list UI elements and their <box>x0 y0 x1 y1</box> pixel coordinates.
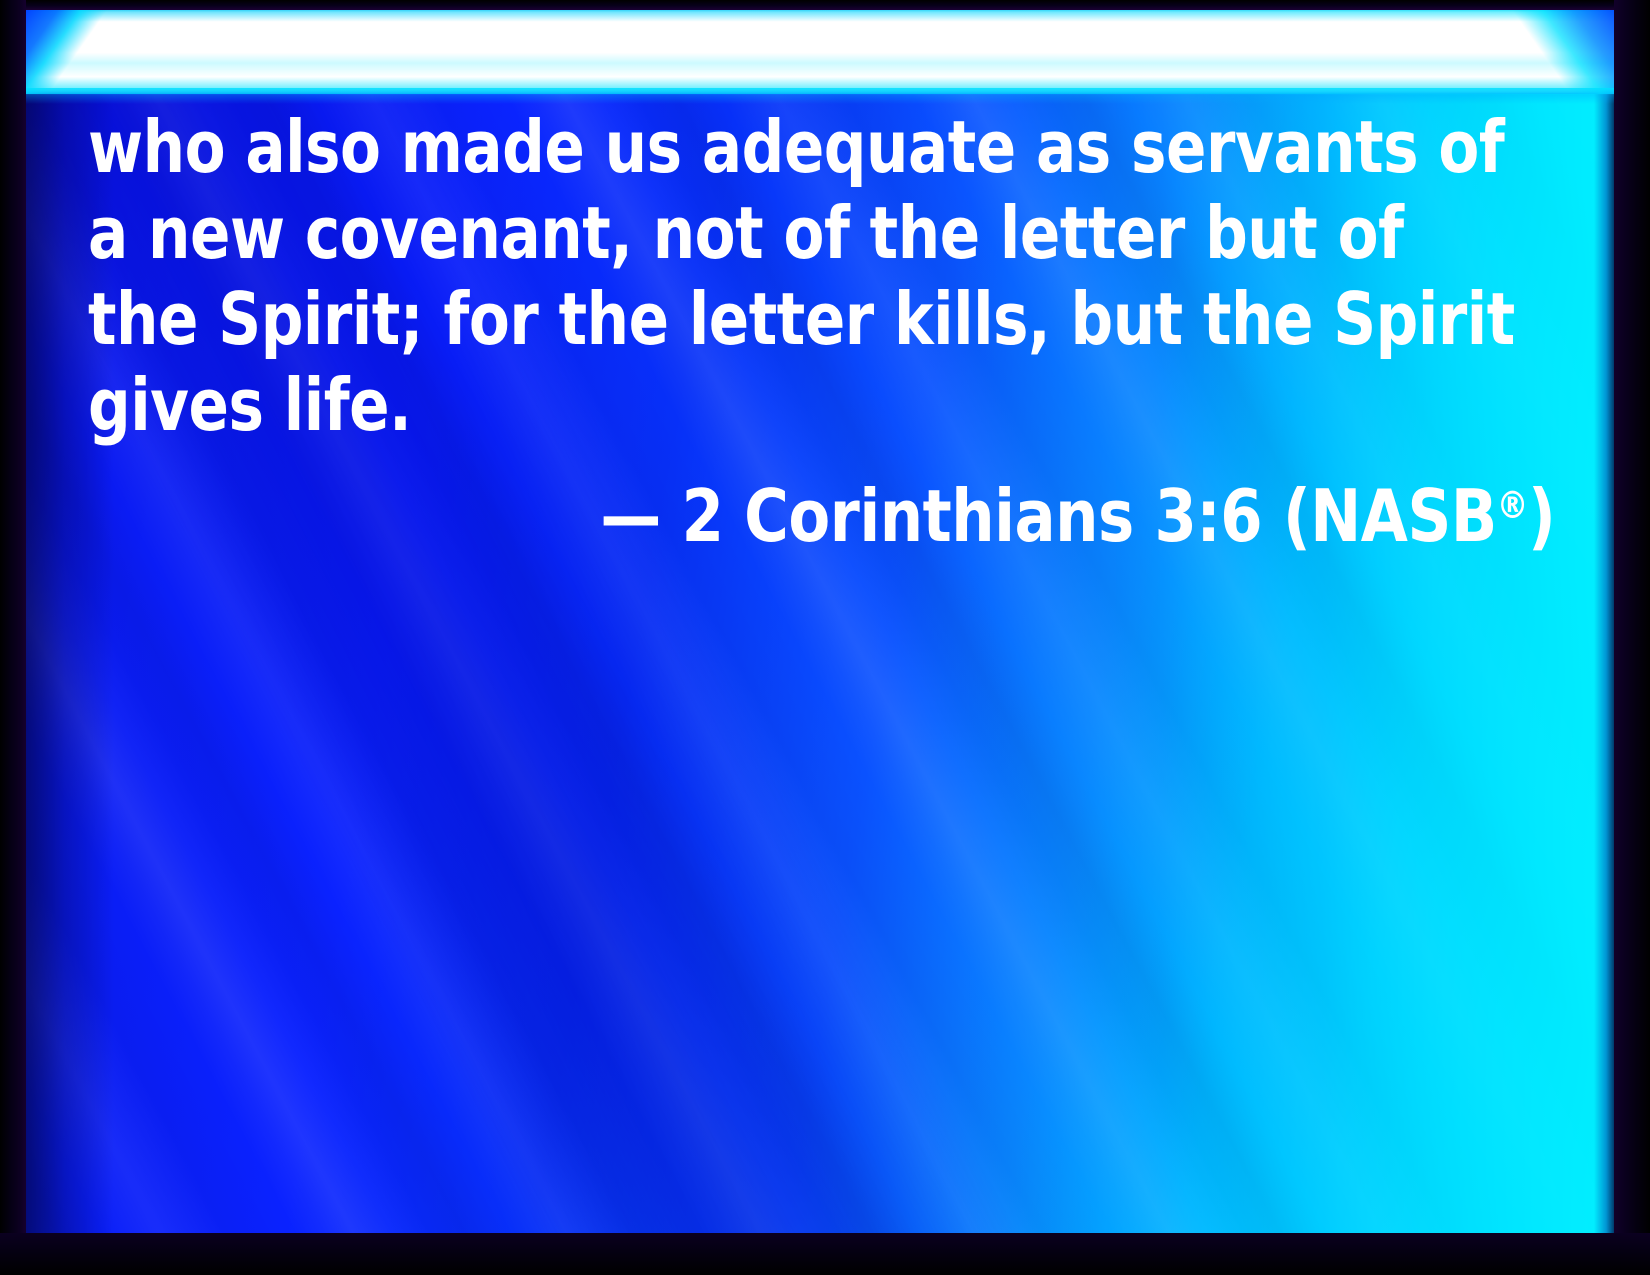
verse-line-4: gives life. <box>88 362 1457 448</box>
verse-slide: who also made us adequate as servants of… <box>0 0 1650 1275</box>
verse-attribution: — 2 Corinthians 3:6 (NASB®) <box>177 448 1576 559</box>
top-highlight-right-taper <box>1506 8 1616 94</box>
verse-line-2: a new covenant, not of the letter but of <box>88 190 1457 276</box>
verse-line-3: the Spirit; for the letter kills, but th… <box>88 276 1457 362</box>
frame-border-bottom <box>0 1233 1650 1275</box>
frame-border-right <box>1614 0 1650 1275</box>
registered-trademark-icon: ® <box>1497 483 1528 527</box>
frame-border-left <box>0 0 26 1275</box>
attribution-translation-close: ) <box>1528 474 1555 558</box>
attribution-book: 2 Corinthians <box>682 474 1134 558</box>
slide-canvas: who also made us adequate as servants of… <box>24 8 1616 1235</box>
verse-text-block: who also made us adequate as servants of… <box>88 104 1576 559</box>
verse-line-1: who also made us adequate as servants of <box>88 104 1457 190</box>
attribution-dash: — <box>600 474 660 558</box>
top-highlight-left-taper <box>24 8 110 94</box>
background-right-shadow <box>1594 8 1616 1235</box>
attribution-reference: 3:6 <box>1155 474 1263 558</box>
top-highlight-feather <box>24 88 1616 104</box>
attribution-translation-open: (NASB <box>1283 474 1497 558</box>
top-highlight-bar <box>24 8 1616 94</box>
